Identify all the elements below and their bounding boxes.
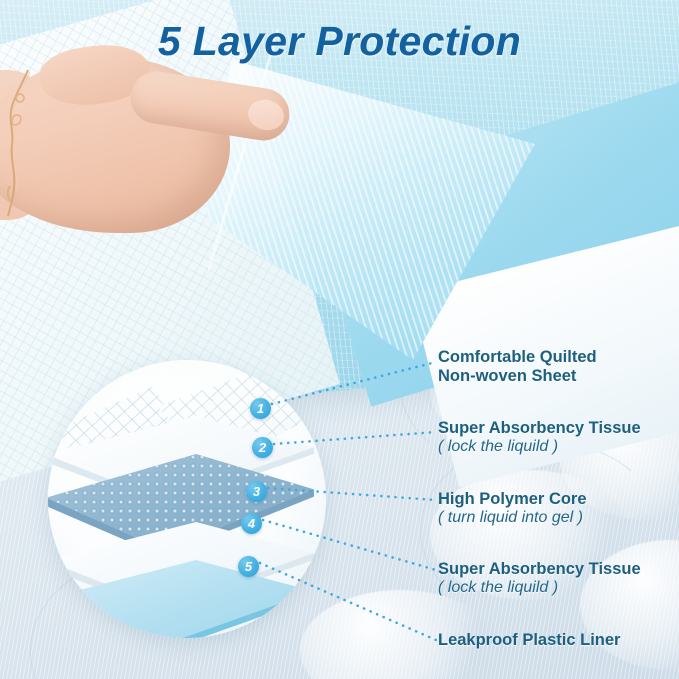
gold-chain-bracelet-icon — [0, 68, 56, 218]
callout-label-1-line1: Comfortable Quilted — [438, 348, 597, 367]
callout-label-3-line1: High Polymer Core — [438, 490, 587, 509]
callout-label-1-line2: Non-woven Sheet — [438, 367, 597, 386]
callout-label-4-line1: Super Absorbency Tissue — [438, 560, 641, 579]
callout-label-2: Super Absorbency Tissue ( lock the liqui… — [438, 419, 641, 457]
product-infographic: 1 2 3 4 5 5 Layer Protection Comfortable… — [0, 0, 679, 679]
layer-badge-5[interactable]: 5 — [238, 556, 259, 577]
layer-badge-3[interactable]: 3 — [246, 481, 267, 502]
layer-badge-4[interactable]: 4 — [241, 513, 262, 534]
layer-badge-2[interactable]: 2 — [252, 437, 273, 458]
callout-label-4-note: ( lock the liquild ) — [438, 579, 641, 598]
callout-label-5-line1: Leakproof Plastic Liner — [438, 631, 620, 650]
callout-label-2-line1: Super Absorbency Tissue — [438, 419, 641, 438]
page-title: 5 Layer Protection — [0, 18, 679, 65]
layer-cutaway-inset — [48, 360, 326, 638]
hand-holding-pad — [0, 40, 310, 255]
layer-5-plastic-liner — [48, 560, 314, 638]
callout-label-2-note: ( lock the liquild ) — [438, 438, 641, 457]
layer-badge-1[interactable]: 1 — [250, 398, 271, 419]
layer-5-face — [48, 560, 314, 638]
callout-label-4: Super Absorbency Tissue ( lock the liqui… — [438, 560, 641, 598]
five-layer-stack — [48, 360, 326, 638]
callout-label-5: Leakproof Plastic Liner — [438, 631, 620, 650]
callout-label-3: High Polymer Core ( turn liquid into gel… — [438, 490, 587, 528]
callout-label-3-note: ( turn liquid into gel ) — [438, 509, 587, 528]
callout-label-1: Comfortable Quilted Non-woven Sheet — [438, 348, 597, 387]
